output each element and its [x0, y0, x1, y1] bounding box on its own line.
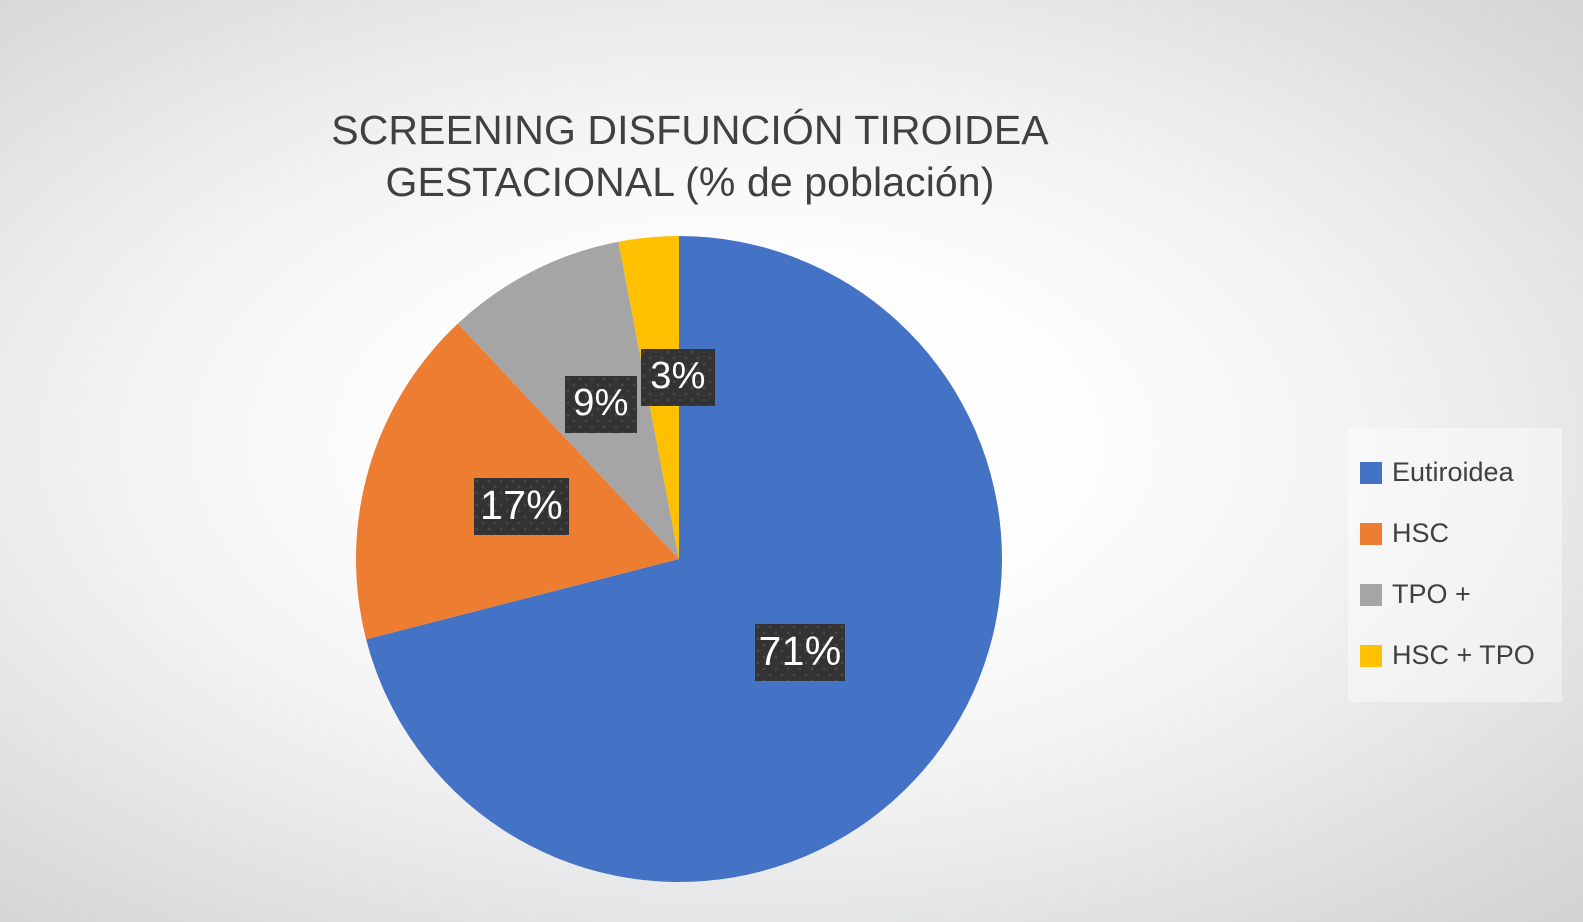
data-label-hsc-tpo: 3% — [641, 349, 715, 406]
data-label-tpo: 9% — [565, 376, 637, 433]
legend-item-label: HSC — [1392, 520, 1449, 547]
legend-item-eutiroidea[interactable]: Eutiroidea — [1348, 442, 1562, 503]
legend-swatch-icon — [1360, 645, 1382, 667]
legend-item-label: Eutiroidea — [1392, 459, 1514, 486]
data-label-hsc: 17% — [474, 478, 569, 535]
legend-swatch-icon — [1360, 584, 1382, 606]
legend-swatch-icon — [1360, 462, 1382, 484]
legend-item-hsc[interactable]: HSC — [1348, 503, 1562, 564]
slide-canvas: SCREENING DISFUNCIÓN TIROIDEA GESTACIONA… — [0, 0, 1583, 922]
legend-item-label: TPO + — [1392, 581, 1471, 608]
pie-chart-svg — [0, 0, 1583, 922]
data-label-eutiroidea: 71% — [755, 624, 845, 681]
data-label-value: 3% — [650, 357, 706, 398]
pie-chart — [0, 0, 1583, 922]
legend-swatch-icon — [1360, 523, 1382, 545]
legend-item-tpo[interactable]: TPO + — [1348, 564, 1562, 625]
data-label-value: 9% — [573, 384, 629, 425]
chart-legend: Eutiroidea HSC TPO + HSC + TPO — [1348, 428, 1562, 702]
legend-item-hsc-tpo[interactable]: HSC + TPO — [1348, 625, 1562, 686]
data-label-value: 71% — [759, 631, 842, 675]
pie-slice-group — [356, 236, 1002, 882]
data-label-value: 17% — [480, 485, 563, 529]
legend-item-label: HSC + TPO — [1392, 642, 1535, 669]
